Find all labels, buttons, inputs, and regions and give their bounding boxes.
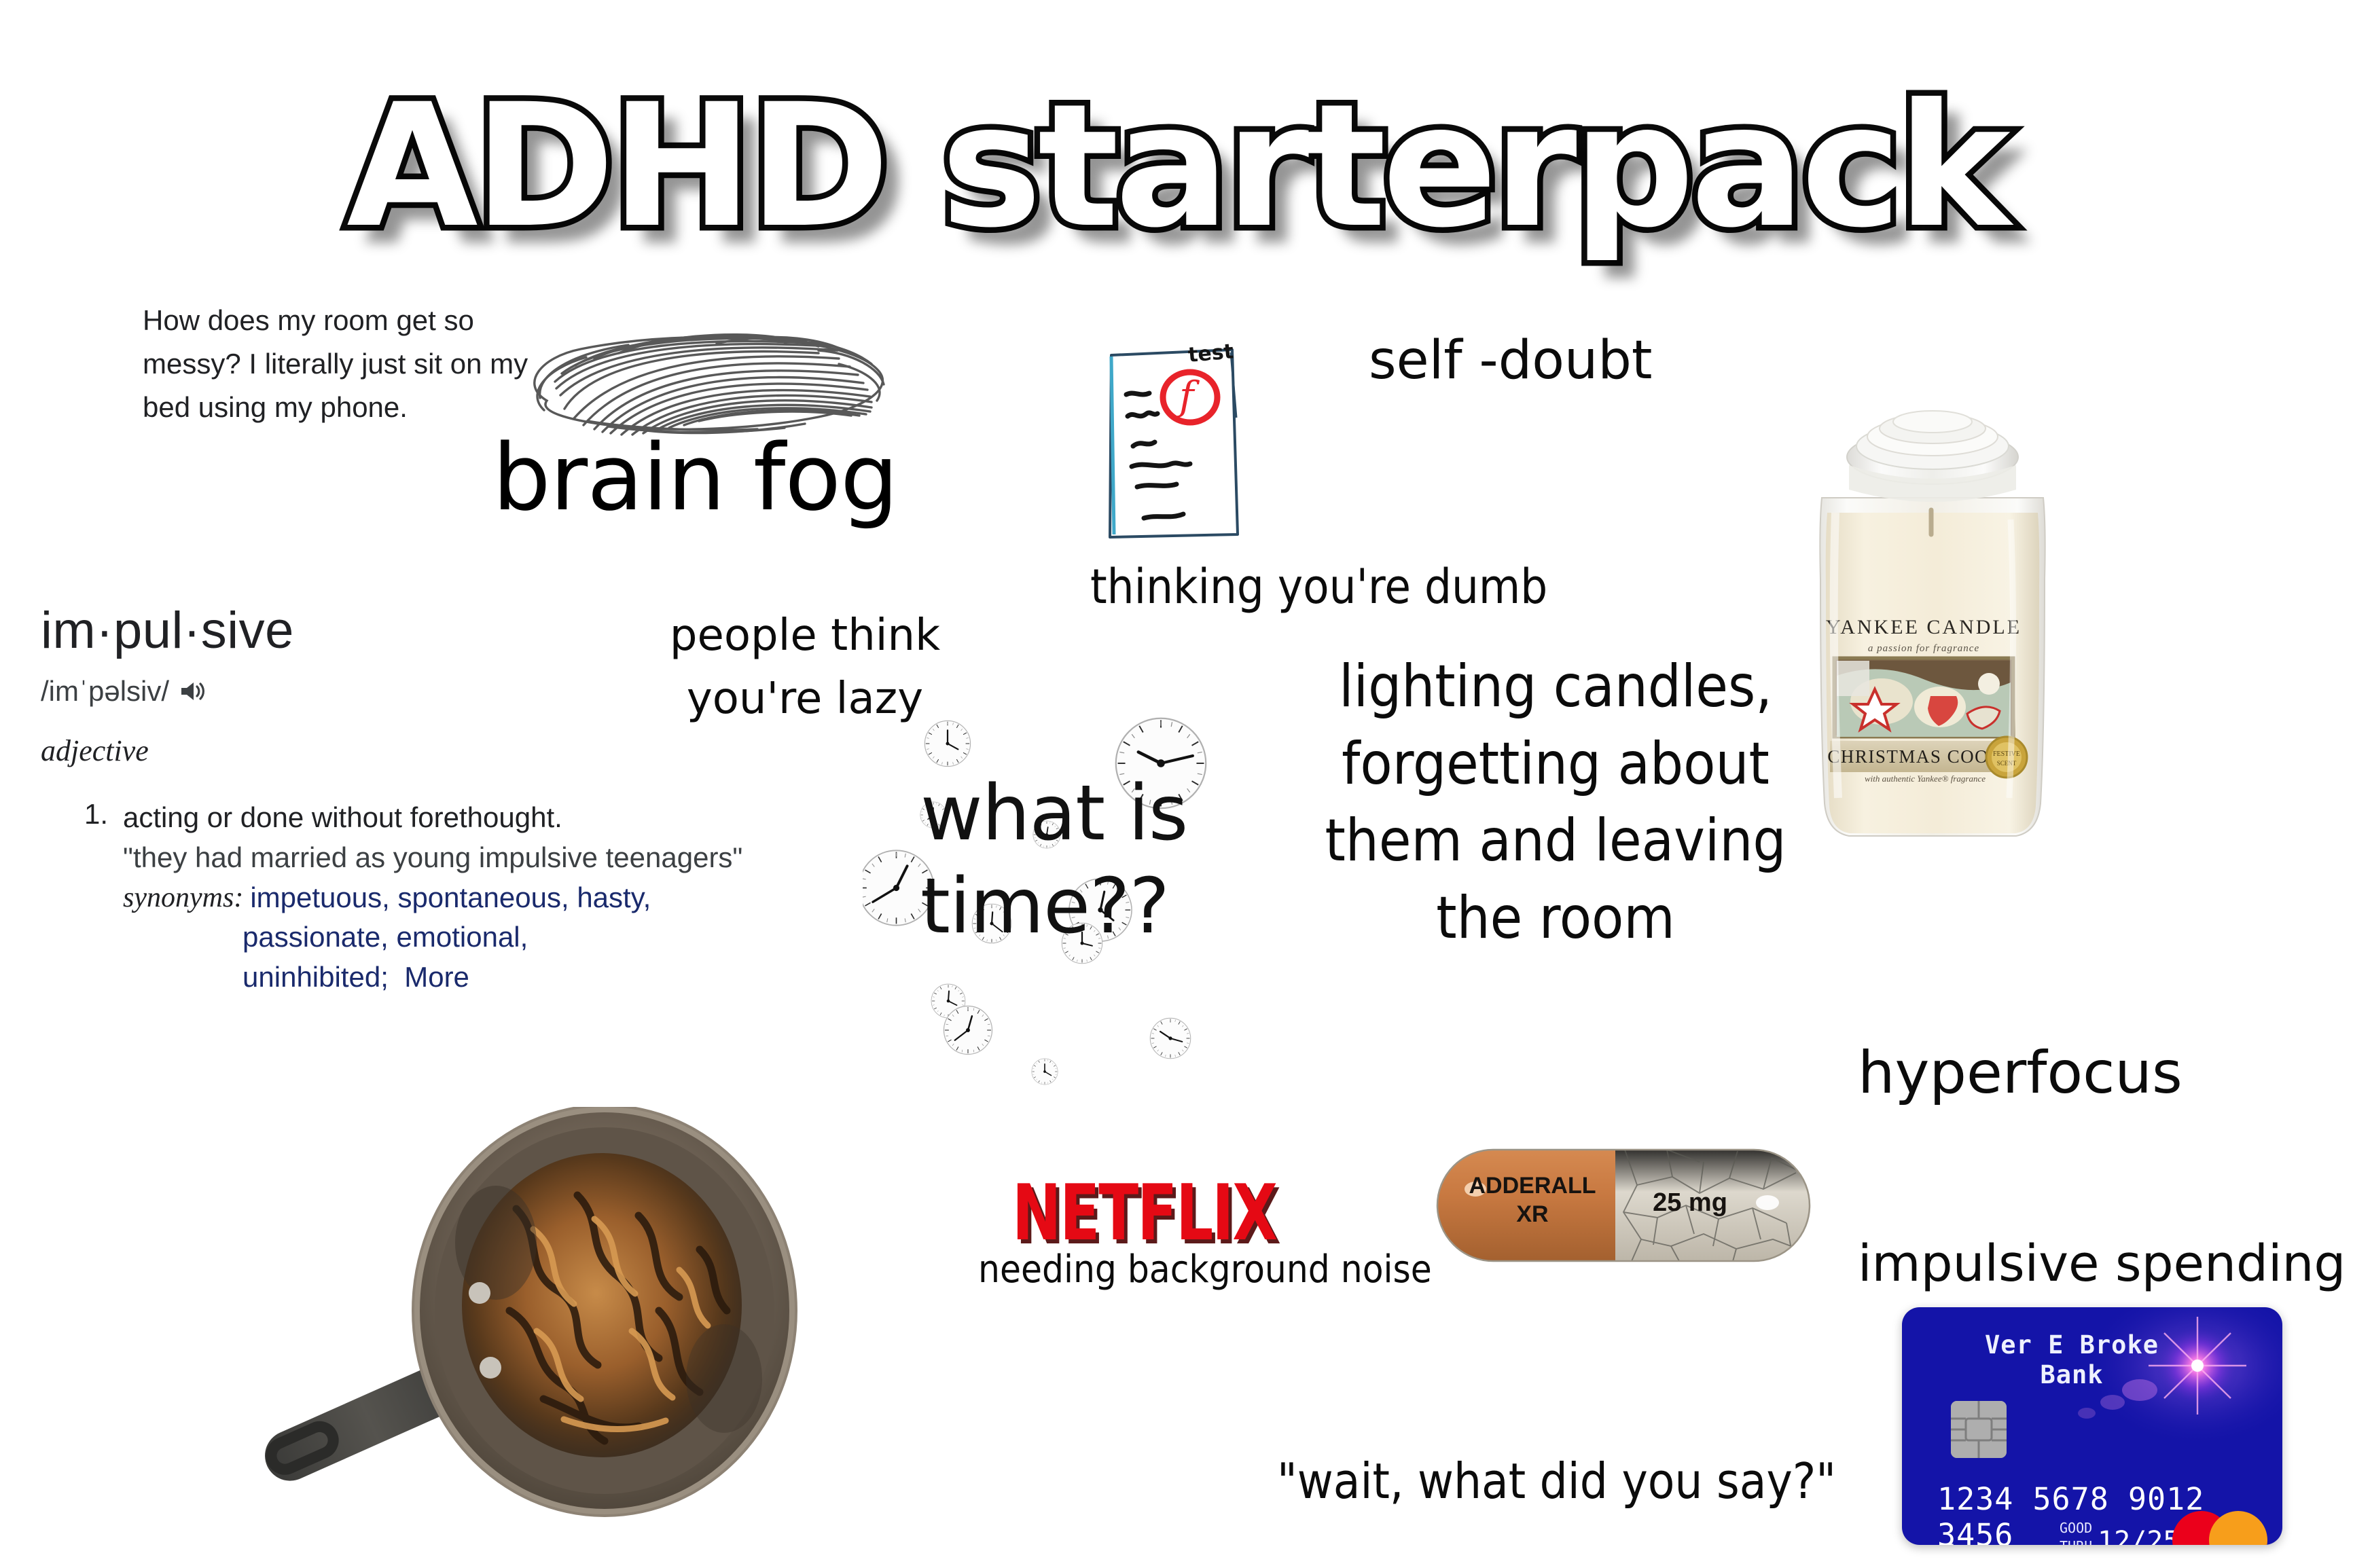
failed-test-paper-icon: test f <box>1087 336 1263 540</box>
pill-brand: ADDERALL <box>1469 1173 1596 1199</box>
pill-dose: 25 mg <box>1653 1188 1727 1217</box>
dictionary-senses: 1. acting or done without forethought. "… <box>41 798 761 998</box>
speaker-icon[interactable] <box>179 679 206 704</box>
card-bank-name: Ver E Broke Bank <box>1936 1330 2208 1389</box>
emv-chip-icon <box>1951 1401 2007 1458</box>
synonyms-line-1[interactable]: impetuous, spontaneous, hasty, <box>250 878 651 918</box>
netflix-group: NETFLIX needing background noise <box>1012 1168 1276 1244</box>
dictionary-entry: im·pul·sive /imˈpəlsiv/ adjective 1. act… <box>41 601 761 998</box>
self-doubt-label: self -doubt <box>1369 329 1652 392</box>
dictionary-pronunciation-row: /imˈpəlsiv/ <box>41 675 761 708</box>
sense-definition: acting or done without forethought. <box>123 801 562 833</box>
card-holder-name: J. Doe <box>1940 1538 2055 1545</box>
analog-clock-icon <box>1032 1059 1058 1084</box>
yankee-candle-icon: YANKEE CANDLE a passion for fragrance CH… <box>1807 377 2058 845</box>
adderall-capsule-icon: ADDERALL XR 25 mg <box>1433 1137 1814 1273</box>
netflix-wordmark: NETFLIX <box>1012 1168 1276 1258</box>
sense-example: "they had married as young impulsive tee… <box>123 841 742 873</box>
candle-brand: YANKEE CANDLE <box>1826 616 2022 638</box>
hyperfocus-label: hyperfocus <box>1858 1039 2183 1108</box>
analog-clock-icon <box>1150 1018 1191 1059</box>
sense-number: 1. <box>84 798 108 998</box>
wait-what-label: "wait, what did you say?" <box>1277 1453 1836 1509</box>
credit-card[interactable]: Ver E Broke Bank 1234 5678 9012 3456 GOO… <box>1902 1307 2282 1545</box>
analog-clock-icon <box>924 721 970 766</box>
lighting-candles-label: lighting candles, forgetting about them … <box>1311 649 1800 957</box>
impulsive-spending-label: impulsive spending <box>1858 1235 2346 1294</box>
brain-fog-label: brain fog <box>492 424 898 531</box>
more-link[interactable]: More <box>404 961 469 993</box>
brain-fog-group: brain fog <box>499 319 968 564</box>
synonyms-line-2[interactable]: passionate, emotional, <box>123 921 528 953</box>
pronunciation-text: /imˈpəlsiv/ <box>41 675 169 708</box>
test-heading: test <box>1187 340 1235 367</box>
dictionary-part-of-speech: adjective <box>41 733 761 768</box>
analog-clock-icon <box>944 1006 992 1054</box>
card-good-thru-label: GOOD THRU <box>2060 1519 2092 1545</box>
page-title: ADHD starterpack <box>0 81 2353 251</box>
needing-background-noise-label: needing background noise <box>978 1248 1432 1292</box>
dictionary-headword: im·pul·sive <box>41 601 761 660</box>
what-is-time-label: what is time?? <box>920 767 1187 953</box>
burnt-frying-pan-icon <box>224 1107 836 1555</box>
candle-footnote: with authentic Yankee® fragrance <box>1865 773 1986 784</box>
candle-tagline: a passion for fragrance <box>1868 643 1979 654</box>
mastercard-icon <box>2172 1511 2267 1545</box>
svg-text:FESTIVE: FESTIVE <box>1993 750 2020 758</box>
pill-form: XR <box>1516 1201 1548 1227</box>
card-expiry: 12/25 <box>2098 1526 2179 1545</box>
thinking-youre-dumb-label: thinking you're dumb <box>1090 560 1547 615</box>
synonyms-line-3[interactable]: uninhibited; <box>243 961 389 993</box>
room-messy-note: How does my room get so messy? I literal… <box>143 299 530 429</box>
synonyms-label: synonyms: <box>123 878 243 918</box>
